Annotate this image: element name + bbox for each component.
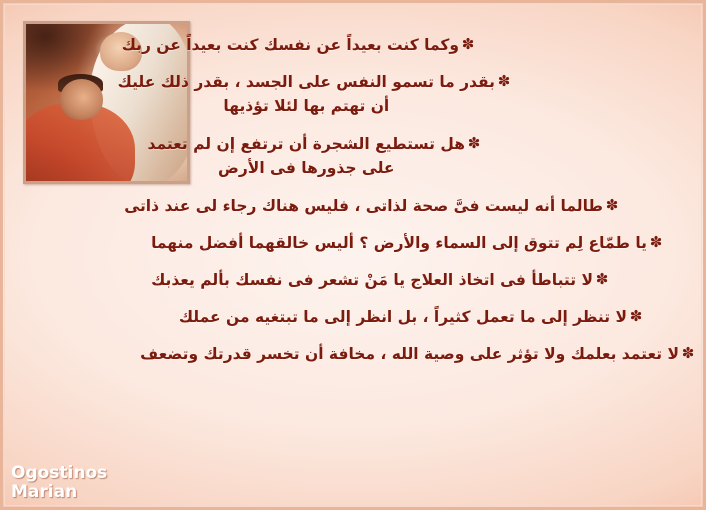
list-item: ✽ لا تعتمد بعلمك ولا تؤثر على وصية الله …: [3, 342, 706, 366]
list-item: ✽ لا تتباطأ فى اتخاذ العلاج يا مَنْ تشعر…: [3, 268, 706, 292]
quote-list: ✽ وكما كنت بعيداً عن نفسك كنت بعيداً عن …: [3, 33, 706, 379]
list-item: ✽ وكما كنت بعيداً عن نفسك كنت بعيداً عن …: [3, 33, 706, 57]
signature: Ogostinos Marian: [11, 464, 107, 503]
quote-text-main: بقدر ما تسمو النفس على الجسد ، بقدر ذلك …: [118, 73, 495, 91]
quote-text: يا طمّاع لِم تتوق إلى السماء والأرض ؟ أل…: [151, 231, 647, 255]
quote-text-main: هل تستطيع الشجرة أن ترتفع إن لم تعتمد: [148, 135, 466, 153]
quote-text: وكما كنت بعيداً عن نفسك كنت بعيداً عن رب…: [122, 33, 459, 57]
quote-text-continuation: أن تهتم بها لئلا تؤذيها: [118, 94, 495, 118]
signature-line-2: Marian: [11, 483, 107, 503]
list-item: ✽ يا طمّاع لِم تتوق إلى السماء والأرض ؟ …: [3, 231, 706, 255]
asterisk-bullet-icon: ✽: [593, 268, 611, 291]
list-item: ✽ هل تستطيع الشجرة أن ترتفع إن لم تعتمد …: [3, 132, 706, 180]
list-item: ✽ بقدر ما تسمو النفس على الجسد ، بقدر ذل…: [3, 70, 706, 118]
asterisk-bullet-icon: ✽: [679, 342, 697, 365]
quote-text-continuation: على جذورها فى الأرض: [148, 156, 466, 180]
quote-text: لا تعتمد بعلمك ولا تؤثر على وصية الله ، …: [140, 342, 679, 366]
asterisk-bullet-icon: ✽: [647, 231, 665, 254]
asterisk-bullet-icon: ✽: [495, 70, 513, 93]
asterisk-bullet-icon: ✽: [465, 132, 483, 155]
asterisk-bullet-icon: ✽: [603, 194, 621, 217]
quote-text: هل تستطيع الشجرة أن ترتفع إن لم تعتمد عل…: [148, 132, 466, 180]
asterisk-bullet-icon: ✽: [459, 33, 477, 56]
list-item: ✽ طالما أنه ليست فىَّ صحة لذاتى ، فليس ه…: [3, 194, 706, 218]
quote-text: لا تنظر إلى ما تعمل كثيراً ، بل انظر إلى…: [179, 305, 627, 329]
asterisk-bullet-icon: ✽: [627, 305, 645, 328]
quote-text: بقدر ما تسمو النفس على الجسد ، بقدر ذلك …: [118, 70, 495, 118]
quote-text: لا تتباطأ فى اتخاذ العلاج يا مَنْ تشعر ف…: [151, 268, 593, 292]
quote-text: طالما أنه ليست فىَّ صحة لذاتى ، فليس هنا…: [124, 194, 603, 218]
signature-line-1: Ogostinos: [11, 464, 107, 484]
list-item: ✽ لا تنظر إلى ما تعمل كثيراً ، بل انظر إ…: [3, 305, 706, 329]
quote-card: ✽ وكما كنت بعيداً عن نفسك كنت بعيداً عن …: [0, 0, 706, 510]
